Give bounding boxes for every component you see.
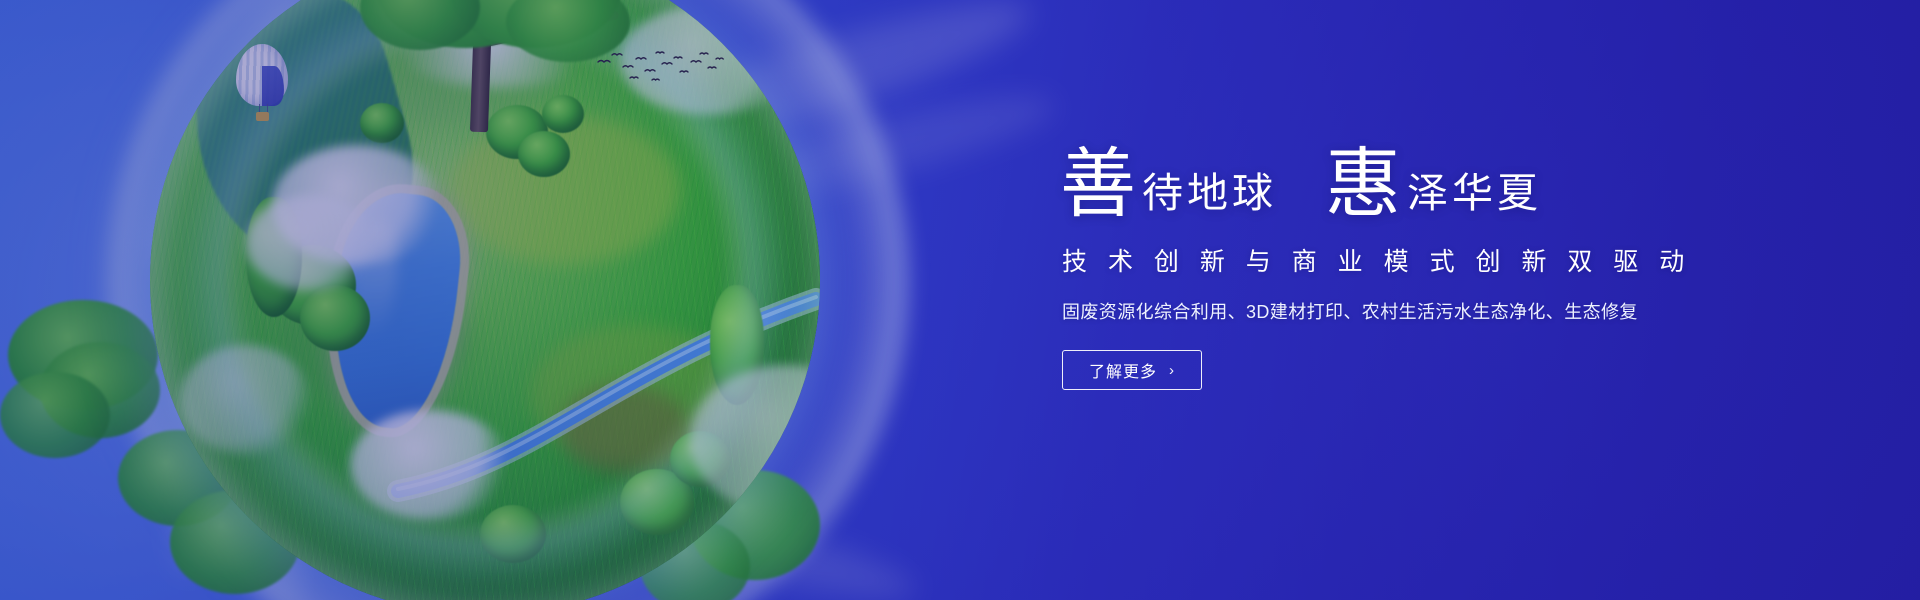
banner-description: 固废资源化综合利用、3D建材打印、农村生活污水生态净化、生态修复 — [1062, 298, 1760, 324]
banner-content: 善 待地球 惠 泽华夏 技 术 创 新 与 商 业 模 式 创 新 双 驱 动 … — [1060, 148, 1760, 390]
chevron-right-icon: › — [1169, 363, 1175, 378]
page-title: 善 待地球 惠 泽华夏 — [1060, 148, 1760, 220]
hero-banner: 善 待地球 惠 泽华夏 技 术 创 新 与 商 业 模 式 创 新 双 驱 动 … — [0, 0, 1920, 600]
headline-part2-big: 惠 — [1325, 148, 1401, 220]
headline-part1-big: 善 — [1060, 148, 1136, 220]
learn-more-label: 了解更多 — [1089, 358, 1157, 382]
headline-part1-small: 待地球 — [1142, 173, 1277, 220]
learn-more-button[interactable]: 了解更多 › — [1062, 350, 1202, 390]
headline-part2-small: 泽华夏 — [1407, 173, 1542, 220]
banner-subtitle: 技 术 创 新 与 商 业 模 式 创 新 双 驱 动 — [1062, 242, 1760, 278]
